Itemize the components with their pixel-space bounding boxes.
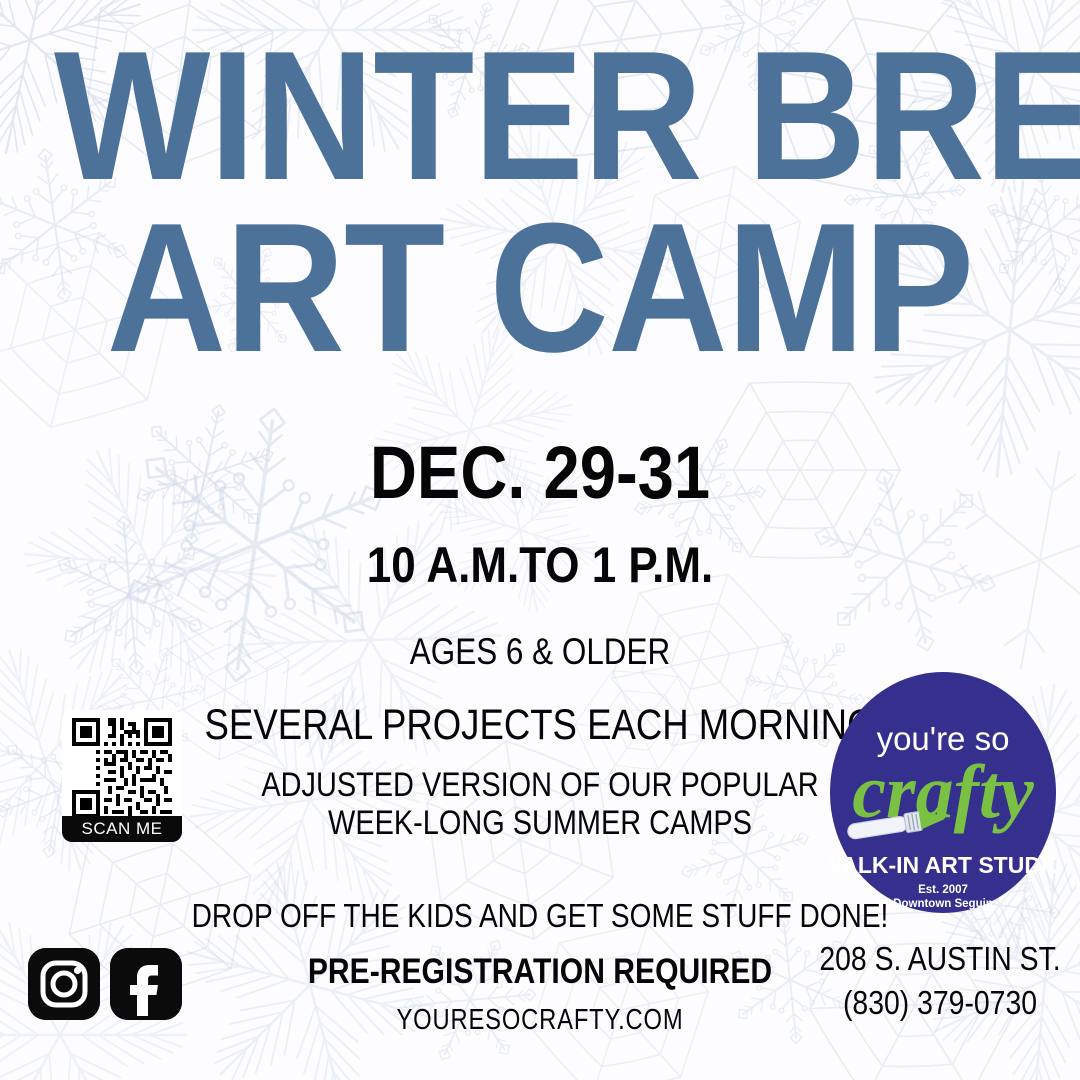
- qr-code-block[interactable]: SCAN ME: [62, 710, 182, 842]
- camp-dates: DEC. 29-31: [65, 436, 1015, 510]
- facebook-icon[interactable]: [110, 948, 182, 1020]
- qr-code-icon[interactable]: [72, 718, 172, 818]
- camp-ages: AGES 6 & OLDER: [81, 633, 999, 670]
- address-phone[interactable]: (830) 379-0730: [815, 986, 1064, 1019]
- poster-canvas: WINTER BREAK ART CAMP DEC. 29-31 10 A.M.…: [0, 0, 1080, 1080]
- logo-city: Downtown Seguin: [893, 898, 993, 910]
- logo-youre-so-crafty: you're so crafty WALK-IN ART STUDIO Est.…: [830, 672, 1056, 913]
- logo-est: Est. 2007: [918, 884, 968, 896]
- headline-line-1: WINTER BREAK: [54, 36, 1026, 194]
- address-street: 208 S. AUSTIN ST.: [815, 942, 1064, 975]
- social-icons: [28, 948, 182, 1020]
- camp-times: 10 A.M.TO 1 P.M.: [65, 540, 1015, 590]
- headline-line-2: ART CAMP: [54, 208, 1026, 366]
- instagram-icon[interactable]: [28, 948, 100, 1020]
- scan-me-label: SCAN ME: [62, 816, 182, 842]
- logo-tagline: WALK-IN ART STUDIO: [830, 852, 1056, 878]
